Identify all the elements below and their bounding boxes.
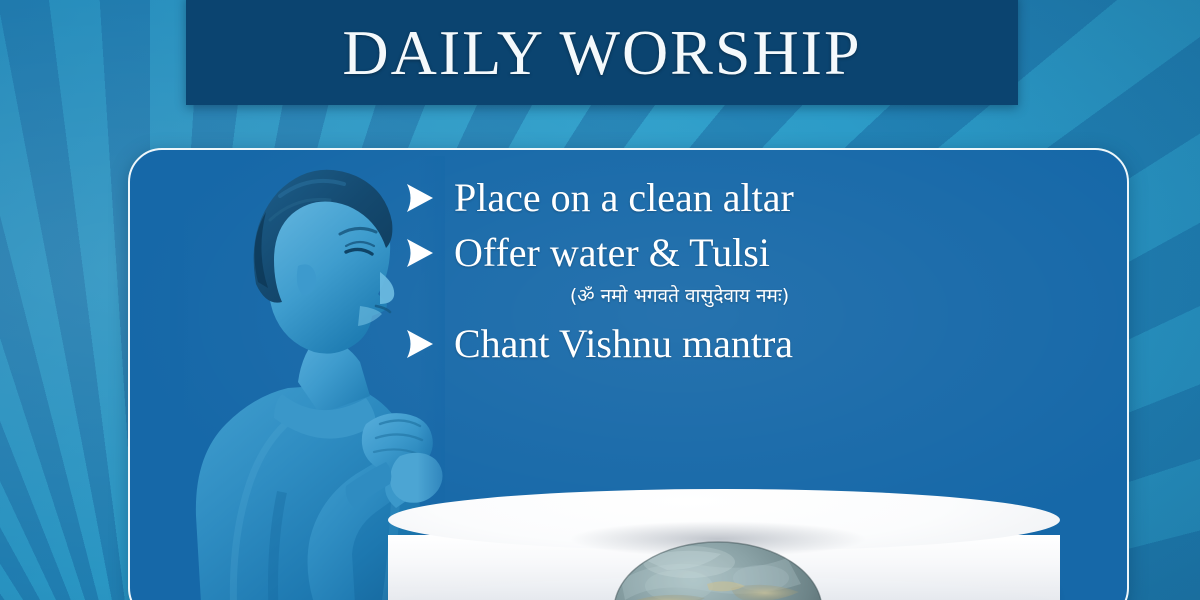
list-item-label: Place on a clean altar [454, 172, 794, 225]
arrow-bullet-icon [402, 236, 436, 270]
instruction-list: Place on a clean altar Offer water & Tul… [402, 172, 1102, 372]
list-item-label: Offer water & Tulsi [454, 227, 770, 280]
instructions-card: Place on a clean altar Offer water & Tul… [128, 148, 1129, 600]
arrow-bullet-icon [402, 327, 436, 361]
list-item[interactable]: Chant Vishnu mantra [402, 318, 1102, 371]
mantra-text: (ॐ नमो भगवते वासुदेवाय नमः) [402, 282, 957, 308]
arrow-bullet-icon [402, 181, 436, 215]
poster-canvas: DAILY WORSHIP [0, 0, 1200, 600]
list-item[interactable]: Place on a clean altar [402, 172, 1102, 225]
list-item[interactable]: Offer water & Tulsi [402, 227, 1102, 280]
list-item-label: Chant Vishnu mantra [454, 318, 793, 371]
page-title: DAILY WORSHIP [342, 15, 861, 85]
title-banner: DAILY WORSHIP [186, 0, 1018, 105]
shaligram-stone [611, 540, 825, 600]
